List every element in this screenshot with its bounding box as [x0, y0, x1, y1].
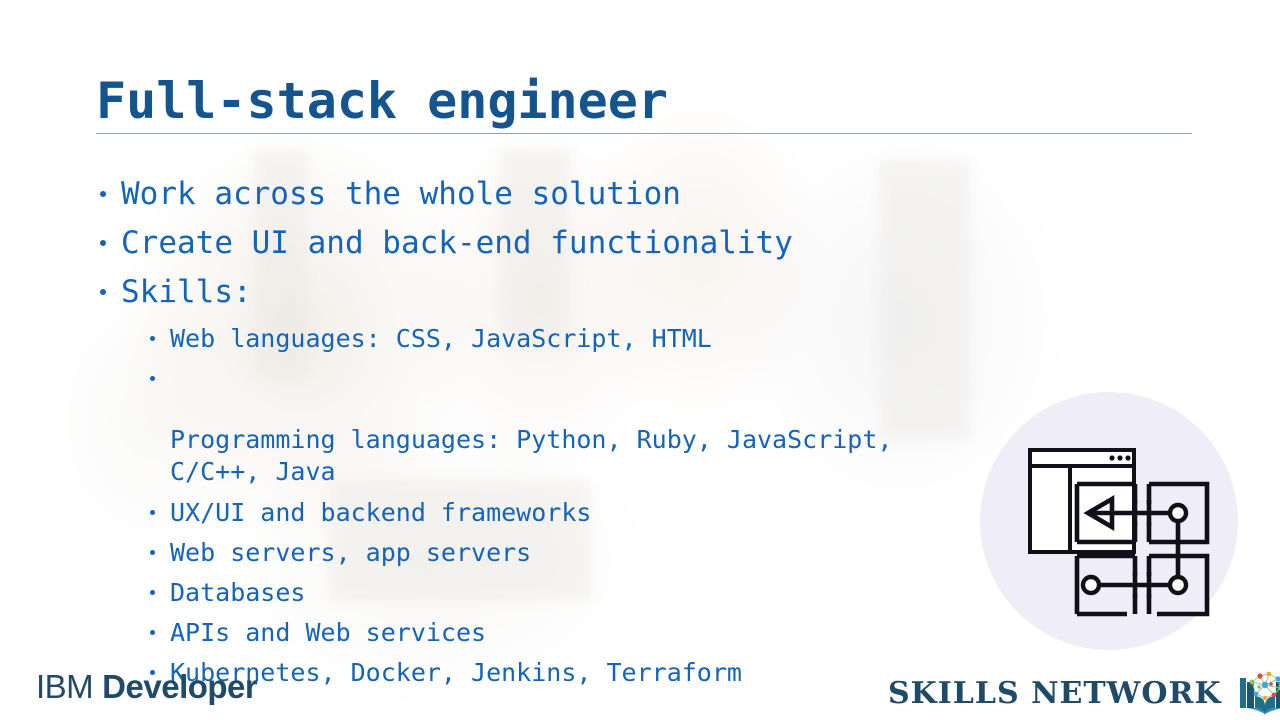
- sub-list-item-label: Programming languages: Python, Ruby, Jav…: [170, 425, 892, 486]
- sub-list-item-label: APIs and Web services: [170, 618, 486, 647]
- sub-list-item: Web languages: CSS, JavaScript, HTML: [96, 320, 1196, 358]
- slide: Full-stack engineer Work across the whol…: [0, 0, 1280, 720]
- sub-list-item-label: Databases: [170, 578, 305, 607]
- skills-network-logo: SKILLS NETWORK: [888, 668, 1280, 718]
- bullet-dot-icon: [150, 630, 155, 635]
- sub-list-item-label: Web servers, app servers: [170, 538, 531, 567]
- page-title: Full-stack engineer: [96, 72, 668, 130]
- bullet-dot-icon: [100, 191, 106, 197]
- bullet-dot-icon: [150, 376, 155, 381]
- list-item: Work across the whole solution: [96, 173, 1196, 215]
- bullet-dot-icon: [100, 289, 106, 295]
- ibm-developer-logo: IBMDeveloper: [36, 668, 257, 706]
- list-item: Create UI and back-end functionality: [96, 222, 1196, 264]
- list-item-label: Create UI and back-end functionality: [121, 225, 793, 261]
- list-item-label: Work across the whole solution: [121, 176, 681, 212]
- list-item: Skills:: [96, 271, 1196, 313]
- browser-network-icon: [960, 372, 1260, 672]
- skills-network-wordmark: SKILLS NETWORK: [888, 676, 1222, 711]
- bullet-dot-icon: [150, 510, 155, 515]
- bullet-dot-icon: [100, 240, 106, 246]
- full-stack-illustration: [960, 372, 1260, 672]
- sub-list-item-label: Web languages: CSS, JavaScript, HTML: [170, 324, 712, 353]
- skills-network-book-icon: [1236, 668, 1280, 718]
- sub-list-item-label: UX/UI and backend frameworks: [170, 498, 591, 527]
- bullet-dot-icon: [150, 590, 155, 595]
- ibm-wordmark: IBM: [36, 668, 93, 705]
- developer-wordmark: Developer: [102, 668, 257, 705]
- list-item-label: Skills:: [121, 274, 252, 310]
- bullet-dot-icon: [150, 550, 155, 555]
- bullet-dot-icon: [150, 336, 155, 341]
- title-divider: [96, 133, 1192, 134]
